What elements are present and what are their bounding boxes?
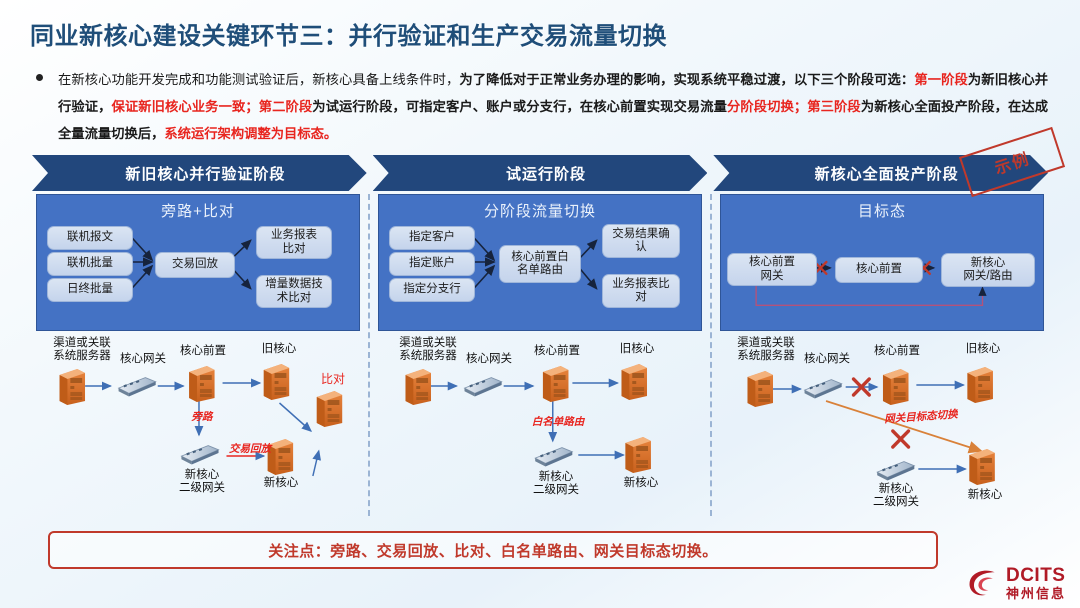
panel-1-node-2[interactable]: 联机批量 — [47, 252, 133, 276]
panel-1-node-4[interactable]: 交易回放 — [155, 252, 235, 278]
device-diagram-1: 渠道或关联 系统服务器 核心网关 核心前置 旧核心 新核心 二级网关 新核心 旁… — [36, 331, 360, 523]
device-diagram-3: 渠道或关联 系统服务器 核心网关 核心前置 旧核心 新核心 二级网关 新核心 网… — [720, 331, 1044, 523]
device-3-label-oldcore: 旧核心 — [954, 343, 1012, 356]
phase-banner-2-label: 试运行阶段 — [506, 163, 586, 184]
device-1-label-oldcore: 旧核心 — [250, 343, 308, 356]
bullet-seg-12: 系统运行架构调整为目标态。 — [164, 126, 337, 141]
device-1-label-gateway: 核心网关 — [114, 353, 172, 366]
bullet-seg-8: 为试运行阶段，可指定客户、账户或分支行，在核心前置实现交易流量 — [312, 99, 727, 114]
footer-note: 关注点：旁路、交易回放、比对、白名单路由、网关目标态切换。 — [48, 531, 938, 569]
device-diagram-2: 渠道或关联 系统服务器 核心网关 核心前置 旧核心 新核心 二级网关 新核心 白… — [378, 331, 702, 523]
bullet-seg-9: 分阶段切换； — [727, 99, 807, 114]
device-1-label-compare: 比对 — [310, 373, 356, 386]
device-2-label-newcore: 新核心 — [610, 477, 672, 490]
device-1-annotation-bypass: 旁路 — [178, 411, 226, 424]
phase-banner-row: 新旧核心并行验证阶段 试运行阶段 新核心全面投产阶段 — [32, 155, 1048, 191]
panel-3-node-3[interactable]: 新核心 网关/路由 — [941, 253, 1035, 287]
column-phase-3: 目标态 核心前置 网关 核心前置 新核心 网关/路由 — [716, 194, 1048, 524]
panel-2-node-2[interactable]: 指定账户 — [389, 252, 475, 276]
bullet-seg-6: 保证新旧核心业务一致； — [112, 99, 259, 114]
panel-staged-traffic-switch: 分阶段流量切换 指定客户 指定账户 指定分支行 核心前置白 名单路由 交易结果确… — [378, 194, 702, 331]
bullet-paragraph-text: 在新核心功能开发完成和功能测试验证后，新核心具备上线条件时，为了降低对于正常业务… — [58, 66, 1048, 147]
phase-banner-1[interactable]: 新旧核心并行验证阶段 — [32, 155, 367, 191]
logo-english-name: DCITS — [1006, 566, 1066, 585]
bullet-seg-4: 第一阶段 — [914, 72, 968, 87]
device-2-label-newgateway: 新核心 二级网关 — [520, 471, 592, 497]
device-2-label-oldcore: 旧核心 — [608, 343, 666, 356]
device-3-label-newgateway: 新核心 二级网关 — [860, 483, 932, 509]
column-divider-1 — [368, 194, 370, 516]
logo-chinese-name: 神州信息 — [1006, 587, 1066, 600]
bullet-seg-7: 第二阶段 — [259, 99, 313, 114]
panel-3-node-1[interactable]: 核心前置 网关 — [727, 253, 817, 286]
device-3-label-gateway: 核心网关 — [798, 353, 856, 366]
device-1-label-newgateway: 新核心 二级网关 — [166, 469, 238, 495]
footer-note-text: 关注点：旁路、交易回放、比对、白名单路由、网关目标态切换。 — [268, 540, 718, 561]
dcits-swirl-icon — [965, 566, 1001, 600]
device-1-label-channel: 渠道或关联 系统服务器 — [42, 337, 122, 363]
bullet-seg-1: 在新核心功能开发完成和功能测试验证后，新核心具备上线条件时， — [58, 72, 459, 87]
sample-stamp-label: 示例 — [991, 145, 1033, 179]
panel-target-state: 目标态 核心前置 网关 核心前置 新核心 网关/路由 — [720, 194, 1044, 331]
panel-1-title: 旁路+比对 — [37, 195, 359, 221]
panel-2-node-5[interactable]: 交易结果确 认 — [602, 224, 680, 258]
device-2-label-channel: 渠道或关联 系统服务器 — [388, 337, 468, 363]
panel-1-node-5[interactable]: 业务报表 比对 — [256, 226, 332, 259]
page-title: 同业新核心建设关键环节三：并行验证和生产交易流量切换 — [30, 16, 667, 51]
panel-2-title: 分阶段流量切换 — [379, 195, 701, 221]
bullet-seg-10: 第三阶段 — [807, 99, 861, 114]
device-2-label-frontend: 核心前置 — [524, 345, 590, 358]
device-1-annotation-replay: 交易回放 — [222, 443, 278, 456]
panel-3-node-2[interactable]: 核心前置 — [835, 257, 923, 283]
brand-logo: DCITS 神州信息 — [965, 566, 1066, 600]
bullet-seg-3: 以下三个阶段可选： — [794, 72, 914, 87]
column-phase-2: 分阶段流量切换 指定客户 指定账户 指定分支行 核心前置白 名单路由 交易结果确… — [374, 194, 706, 524]
panel-3-title: 目标态 — [721, 195, 1043, 221]
phase-banner-2[interactable]: 试运行阶段 — [373, 155, 708, 191]
panel-1-node-1[interactable]: 联机报文 — [47, 226, 133, 250]
device-3-label-channel: 渠道或关联 系统服务器 — [726, 337, 806, 363]
panel-2-node-4[interactable]: 核心前置白 名单路由 — [499, 245, 581, 283]
bullet-seg-2: 为了降低对于正常业务办理的影响，实现系统平稳过渡， — [459, 72, 794, 87]
bullet-dot-icon — [36, 74, 43, 81]
bullet-paragraph-block: 在新核心功能开发完成和功能测试验证后，新核心具备上线条件时，为了降低对于正常业务… — [36, 66, 1048, 147]
phase-banner-1-label: 新旧核心并行验证阶段 — [125, 163, 285, 184]
device-3-label-frontend: 核心前置 — [864, 345, 930, 358]
panel-2-node-3[interactable]: 指定分支行 — [389, 278, 475, 302]
device-3-label-newcore: 新核心 — [954, 489, 1016, 502]
panel-2-node-1[interactable]: 指定客户 — [389, 226, 475, 250]
column-divider-2 — [710, 194, 712, 516]
diagram-columns: 旁路+比对 联机报文 联机批量 日终批量 交易回放 业务报表 — [32, 194, 1048, 524]
panel-1-node-3[interactable]: 日终批量 — [47, 278, 133, 302]
device-2-annotation-whitelist: 白名单路由 — [518, 416, 598, 429]
column-phase-1: 旁路+比对 联机报文 联机批量 日终批量 交易回放 业务报表 — [32, 194, 364, 524]
phase-banner-3-label: 新核心全面投产阶段 — [815, 163, 959, 184]
logo-text-block: DCITS 神州信息 — [1006, 566, 1066, 600]
panel-1-node-6[interactable]: 增量数据技 术比对 — [256, 275, 332, 308]
device-1-label-frontend: 核心前置 — [170, 345, 236, 358]
device-1-label-newcore: 新核心 — [250, 477, 312, 490]
panel-2-node-6[interactable]: 业务报表比 对 — [602, 274, 680, 308]
device-2-label-gateway: 核心网关 — [460, 353, 518, 366]
panel-bypass-compare: 旁路+比对 联机报文 联机批量 日终批量 交易回放 业务报表 — [36, 194, 360, 331]
